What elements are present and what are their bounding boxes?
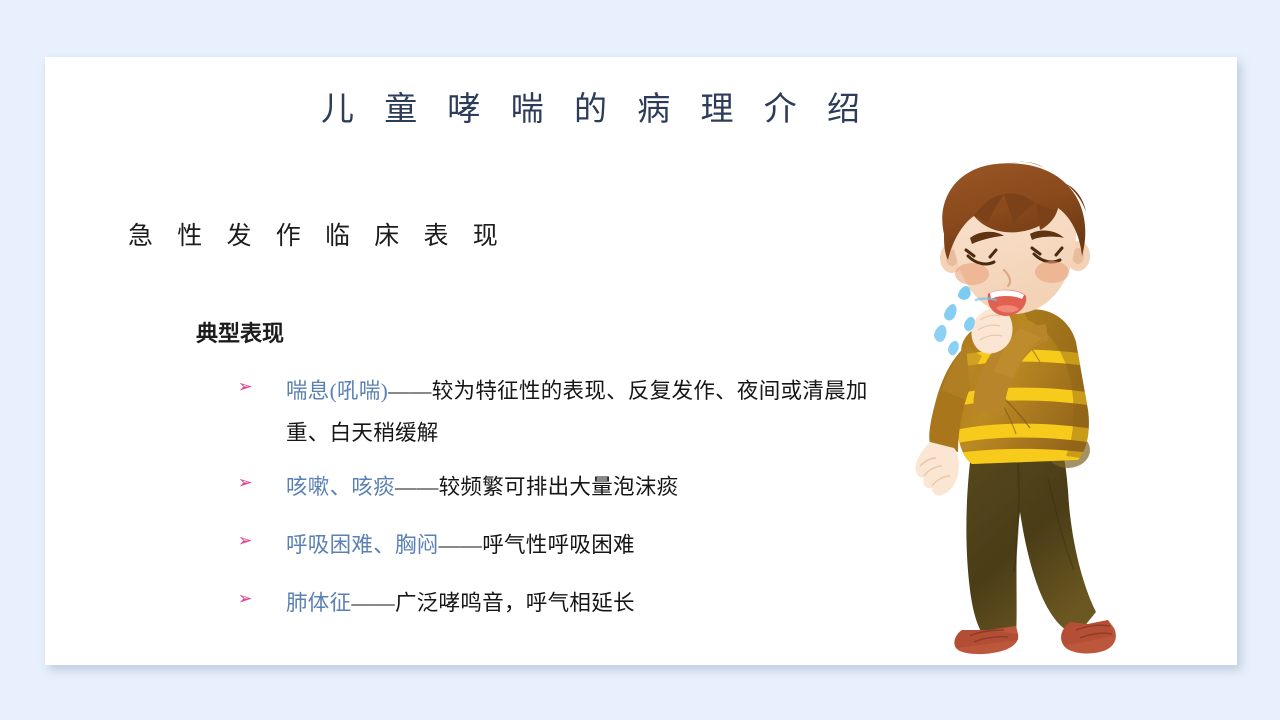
list-item: ➢ 呼吸困难、胸闷——呼气性呼吸困难 [238, 524, 878, 566]
list-item: ➢ 咳嗽、咳痰——较频繁可排出大量泡沫痰 [238, 466, 878, 508]
list-item: ➢ 喘息(吼喘)——较为特征性的表现、反复发作、夜间或清晨加重、白天稍缓解 [238, 370, 878, 454]
bullet-list: ➢ 喘息(吼喘)——较为特征性的表现、反复发作、夜间或清晨加重、白天稍缓解 ➢ … [238, 370, 878, 640]
coughing-boy-illustration [900, 160, 1140, 660]
list-item-keyword: 呼吸困难、胸闷 [286, 533, 439, 557]
sub-heading: 典型表现 [196, 316, 284, 348]
slide-root: 儿 童 哮 喘 的 病 理 介 绍 急 性 发 作 临 床 表 现 典型表现 ➢… [0, 0, 1280, 720]
section-heading: 急 性 发 作 临 床 表 现 [128, 216, 507, 252]
arrow-bullet-icon: ➢ [238, 582, 286, 616]
list-item: ➢ 肺体征——广泛哮鸣音，呼气相延长 [238, 582, 878, 624]
arrow-bullet-icon: ➢ [238, 370, 286, 404]
list-item-text: 肺体征——广泛哮鸣音，呼气相延长 [286, 582, 878, 624]
list-item-keyword: 喘息(吼喘) [286, 379, 388, 403]
list-item-keyword: 咳嗽、咳痰 [286, 475, 395, 499]
list-item-text: 咳嗽、咳痰——较频繁可排出大量泡沫痰 [286, 466, 878, 508]
arrow-bullet-icon: ➢ [238, 524, 286, 558]
arrow-bullet-icon: ➢ [238, 466, 286, 500]
list-item-text: 呼吸困难、胸闷——呼气性呼吸困难 [286, 524, 878, 566]
list-item-detail: ——广泛哮鸣音，呼气相延长 [351, 591, 634, 615]
list-item-keyword: 肺体征 [286, 591, 351, 615]
list-item-detail: ——较频繁可排出大量泡沫痰 [395, 475, 678, 499]
page-title: 儿 童 哮 喘 的 病 理 介 绍 [0, 82, 1192, 130]
list-item-detail: ——呼气性呼吸困难 [439, 533, 635, 557]
list-item-text: 喘息(吼喘)——较为特征性的表现、反复发作、夜间或清晨加重、白天稍缓解 [286, 370, 878, 454]
